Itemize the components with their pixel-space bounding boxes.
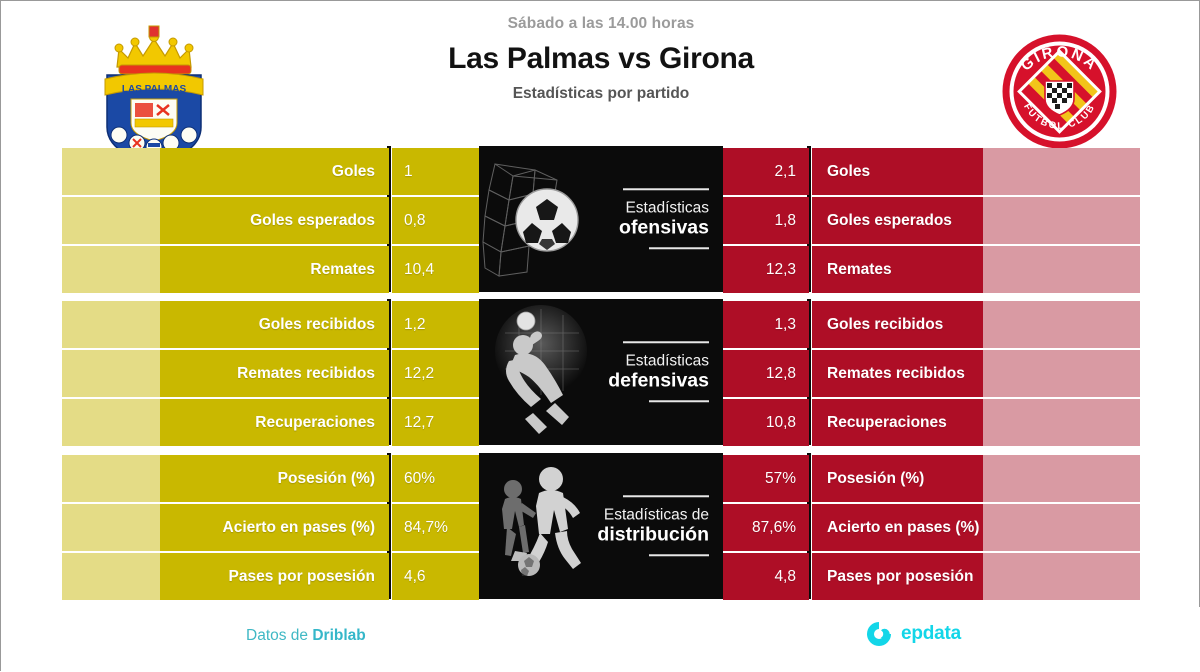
away-value-cell: 87,6%: [723, 504, 809, 551]
stat-label-home: Recuperaciones: [255, 399, 375, 446]
panel-rule-top: [623, 341, 709, 343]
svg-text:LAS PALMAS: LAS PALMAS: [122, 84, 187, 95]
away-value-cell: 1,3: [723, 301, 809, 348]
home-value-cell: 10,4: [392, 246, 479, 293]
away-bar-track: Goles: [812, 148, 1140, 195]
stat-label-away: Remates: [827, 246, 892, 293]
stat-value-home: 60%: [404, 455, 435, 502]
stat-value-home: 1: [404, 148, 413, 195]
footer: Datos de Driblab epdata: [1, 607, 1200, 672]
stat-value-away: 12,3: [766, 246, 796, 293]
stat-label-away: Acierto en pases (%): [827, 504, 979, 551]
home-bar-track: Posesión (%): [62, 455, 389, 502]
away-bar-track: Remates recibidos: [812, 350, 1140, 397]
stat-label-home: Acierto en pases (%): [223, 504, 375, 551]
home-bar-track: Goles recibidos: [62, 301, 389, 348]
stat-label-away: Goles esperados: [827, 197, 952, 244]
panel-text-block: Estadísticas defensivas: [559, 341, 709, 402]
stat-value-away: 10,8: [766, 399, 796, 446]
stat-label-home: Remates recibidos: [237, 350, 375, 397]
credit-source: Driblab: [312, 627, 365, 644]
stat-value-home: 4,6: [404, 553, 426, 600]
stat-label-away: Pases por posesión: [827, 553, 973, 600]
stat-value-home: 12,2: [404, 350, 434, 397]
panel-text-block: Estadísticas de distribución: [559, 495, 709, 556]
stat-label-home: Goles recibidos: [259, 301, 375, 348]
kickoff-time: Sábado a las 14.00 horas: [301, 15, 901, 33]
page-title: Las Palmas vs Girona: [301, 42, 901, 76]
stat-value-away: 1,3: [774, 301, 796, 348]
away-bar-track: Remates: [812, 246, 1140, 293]
panel-rule-bottom: [649, 555, 709, 557]
stat-value-home: 1,2: [404, 301, 426, 348]
home-value-cell: 84,7%: [392, 504, 479, 551]
girona-crest: GIRONA FUTBOL CLUB: [1001, 33, 1118, 150]
epdata-logo: epdata: [866, 621, 961, 647]
stat-label-away: Goles recibidos: [827, 301, 943, 348]
away-bar-track: Posesión (%): [812, 455, 1140, 502]
home-bar-track: Remates recibidos: [62, 350, 389, 397]
home-value-cell: 60%: [392, 455, 479, 502]
panel-line1: Estadísticas: [559, 352, 709, 369]
away-value-cell: 10,8: [723, 399, 809, 446]
stats-board: Goles 1 2,1 Goles Goles esperados 0,8 1: [1, 146, 1200, 607]
panel-line2: distribución: [559, 523, 709, 545]
stat-value-home: 10,4: [404, 246, 434, 293]
stat-label-away: Posesión (%): [827, 455, 924, 502]
panel-line1: Estadísticas: [559, 199, 709, 216]
panel-rule-top: [623, 495, 709, 497]
stat-label-away: Recuperaciones: [827, 399, 947, 446]
panel-rule-bottom: [649, 248, 709, 250]
stat-label-home: Posesión (%): [278, 455, 375, 502]
home-bar-track: Recuperaciones: [62, 399, 389, 446]
home-value-cell: 4,6: [392, 553, 479, 600]
home-value-cell: 12,7: [392, 399, 479, 446]
home-value-cell: 1: [392, 148, 479, 195]
data-credit: Datos de Driblab: [246, 627, 366, 645]
stat-value-away: 12,8: [766, 350, 796, 397]
stat-label-away: Goles: [827, 148, 870, 195]
away-bar-track: Goles esperados: [812, 197, 1140, 244]
stat-value-home: 84,7%: [404, 504, 448, 551]
home-bar-track: Goles esperados: [62, 197, 389, 244]
stat-label-away: Remates recibidos: [827, 350, 965, 397]
panel-text-block: Estadísticas ofensivas: [559, 188, 709, 249]
away-bar-track: Acierto en pases (%): [812, 504, 1140, 551]
stat-value-away: 57%: [765, 455, 796, 502]
las-palmas-crest: LAS PALMAS: [97, 23, 211, 165]
stat-label-home: Pases por posesión: [229, 553, 375, 600]
panel-line2: defensivas: [559, 369, 709, 391]
panel-line1: Estadísticas de: [559, 506, 709, 523]
epdata-donut-icon: [866, 621, 892, 647]
home-bar-track: Pases por posesión: [62, 553, 389, 600]
stat-value-home: 0,8: [404, 197, 426, 244]
panel-line2: ofensivas: [559, 216, 709, 238]
header: Sábado a las 14.00 horas Las Palmas vs G…: [1, 1, 1200, 146]
category-panel-distribucion: Estadísticas de distribución: [479, 453, 723, 599]
home-bar-track: Remates: [62, 246, 389, 293]
header-text-block: Sábado a las 14.00 horas Las Palmas vs G…: [301, 15, 901, 103]
stat-group-defensivas: Goles recibidos 1,2 1,3 Goles recibidos …: [1, 299, 1200, 445]
stat-group-ofensivas: Goles 1 2,1 Goles Goles esperados 0,8 1: [1, 146, 1200, 292]
away-bar-track: Recuperaciones: [812, 399, 1140, 446]
home-bar-track: Goles: [62, 148, 389, 195]
away-bar-track: Pases por posesión: [812, 553, 1140, 600]
panel-rule-bottom: [649, 401, 709, 403]
stat-group-distribucion: Posesión (%) 60% 57% Posesión (%) Aciert…: [1, 453, 1200, 599]
stat-label-home: Goles: [332, 148, 375, 195]
stat-value-home: 12,7: [404, 399, 434, 446]
category-panel-ofensivas: Estadísticas ofensivas: [479, 146, 723, 292]
stat-label-home: Goles esperados: [250, 197, 375, 244]
credit-prefix: Datos de: [246, 627, 312, 644]
home-value-cell: 12,2: [392, 350, 479, 397]
page-subtitle: Estadísticas por partido: [301, 85, 901, 103]
stat-value-away: 87,6%: [752, 504, 796, 551]
stat-value-away: 1,8: [774, 197, 796, 244]
away-value-cell: 12,3: [723, 246, 809, 293]
away-value-cell: 1,8: [723, 197, 809, 244]
away-value-cell: 57%: [723, 455, 809, 502]
home-value-cell: 1,2: [392, 301, 479, 348]
category-panel-defensivas: Estadísticas defensivas: [479, 299, 723, 445]
away-bar-track: Goles recibidos: [812, 301, 1140, 348]
away-value-cell: 2,1: [723, 148, 809, 195]
epdata-wordmark: epdata: [901, 623, 961, 645]
home-bar-track: Acierto en pases (%): [62, 504, 389, 551]
stat-value-away: 2,1: [774, 148, 796, 195]
home-value-cell: 0,8: [392, 197, 479, 244]
away-value-cell: 12,8: [723, 350, 809, 397]
panel-rule-top: [623, 188, 709, 190]
stat-value-away: 4,8: [774, 553, 796, 600]
away-value-cell: 4,8: [723, 553, 809, 600]
stat-label-home: Remates: [310, 246, 375, 293]
